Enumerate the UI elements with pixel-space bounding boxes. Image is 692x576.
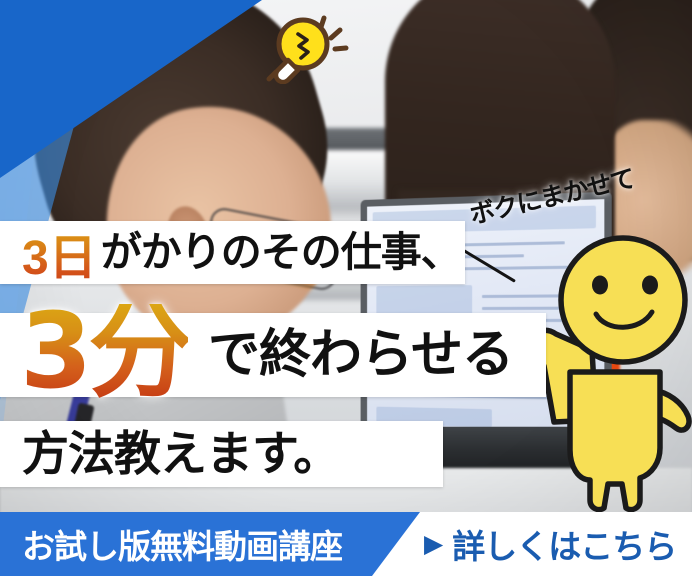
lightbulb-icon <box>258 8 356 84</box>
details-link-label: 詳しくはこちら <box>452 520 676 568</box>
promo-banner: ボクにまかせて 3日 がかりのその仕事、 で終わらせる 3分 方法教えます。 お… <box>0 0 692 576</box>
trial-badge-label: お試し版無料動画講座 <box>0 520 342 568</box>
trial-badge[interactable]: お試し版無料動画講座 <box>0 512 420 576</box>
headline-2-text: で終わらせる <box>208 329 513 381</box>
headline-1-text: がかりのその仕事、 <box>101 232 461 273</box>
headline-band-3: 方法教えます。 <box>0 421 443 487</box>
headline-band-1: 3日 がかりのその仕事、 <box>0 221 465 284</box>
headline-band-2: で終わらせる <box>0 313 546 397</box>
headline-1-highlight: 3日 <box>22 218 101 288</box>
details-link[interactable]: ▶ 詳しくはこちら <box>424 512 676 576</box>
cta-bar: お試し版無料動画講座 ▶ 詳しくはこちら <box>0 512 692 576</box>
headline-3-text: 方法教えます。 <box>22 431 339 478</box>
play-triangle-icon: ▶ <box>424 532 443 557</box>
